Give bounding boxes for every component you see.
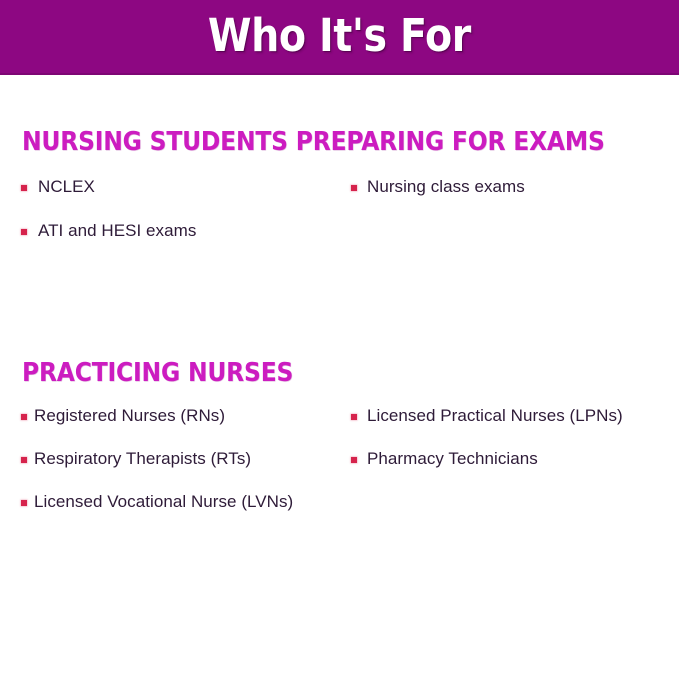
bullet-columns: Registered Nurses (RNs) Respiratory Ther…	[0, 405, 679, 555]
list-item[interactable]: ATI and HESI exams	[21, 220, 341, 264]
square-bullet-icon	[351, 185, 357, 191]
bullet-column-right: Nursing class exams	[351, 176, 671, 220]
list-item[interactable]: Licensed Vocational Nurse (LVNs)	[21, 491, 341, 534]
section-heading: NURSING STUDENTS PREPARING FOR EXAMS	[22, 126, 613, 158]
section-practicing-nurses: PRACTICING NURSES Registered Nurses (RNs…	[0, 357, 679, 555]
list-item-label: Respiratory Therapists (RTs)	[34, 448, 251, 470]
slide-canvas: Who It's For NURSING STUDENTS PREPARING …	[0, 0, 679, 679]
list-item-label: Licensed Practical Nurses (LPNs)	[367, 405, 623, 427]
list-item[interactable]: Licensed Practical Nurses (LPNs)	[351, 405, 671, 448]
square-bullet-icon	[351, 414, 357, 420]
list-item-label: Registered Nurses (RNs)	[34, 405, 225, 427]
section-heading: PRACTICING NURSES	[22, 357, 613, 389]
list-item[interactable]: NCLEX	[21, 176, 341, 220]
square-bullet-icon	[21, 414, 27, 420]
square-bullet-icon	[21, 229, 27, 235]
bullet-column-right: Licensed Practical Nurses (LPNs) Pharmac…	[351, 405, 671, 491]
list-item-label: Nursing class exams	[367, 176, 525, 198]
square-bullet-icon	[21, 500, 27, 506]
section-nursing-students: NURSING STUDENTS PREPARING FOR EXAMS NCL…	[0, 126, 679, 316]
list-item[interactable]: Nursing class exams	[351, 176, 671, 220]
list-item[interactable]: Pharmacy Technicians	[351, 448, 671, 491]
header-banner: Who It's For	[0, 0, 679, 75]
list-item-label: ATI and HESI exams	[38, 220, 196, 242]
bullet-column-left: Registered Nurses (RNs) Respiratory Ther…	[21, 405, 341, 534]
page-title: Who It's For	[208, 13, 471, 58]
list-item-label: Pharmacy Technicians	[367, 448, 538, 470]
list-item[interactable]: Registered Nurses (RNs)	[21, 405, 341, 448]
list-item[interactable]: Respiratory Therapists (RTs)	[21, 448, 341, 491]
bullet-column-left: NCLEX ATI and HESI exams	[21, 176, 341, 264]
list-item-label: Licensed Vocational Nurse (LVNs)	[34, 491, 293, 513]
list-item-label: NCLEX	[38, 176, 95, 198]
square-bullet-icon	[21, 185, 27, 191]
square-bullet-icon	[21, 457, 27, 463]
square-bullet-icon	[351, 457, 357, 463]
bullet-columns: NCLEX ATI and HESI exams Nursing class e…	[0, 176, 679, 316]
